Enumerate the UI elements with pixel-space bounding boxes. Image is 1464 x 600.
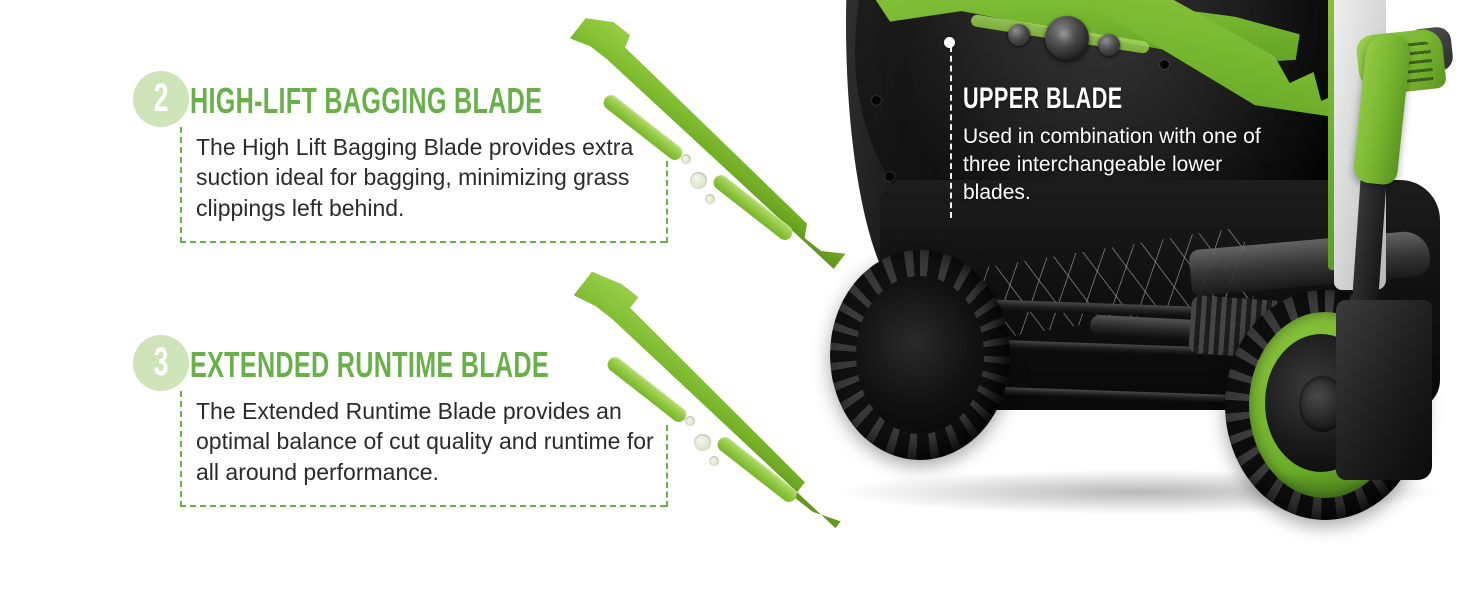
- feature-number: 3: [154, 342, 169, 382]
- blade-silhouette: [556, 5, 871, 271]
- blade-bolt-icon: [1008, 24, 1030, 46]
- blade-center-hole: [690, 172, 707, 189]
- mower-wheel-left: [830, 250, 1010, 460]
- upper-blade-callout: UPPER BLADE Used in combination with one…: [963, 84, 1283, 207]
- blade-center-bolt-icon: [1045, 16, 1089, 60]
- deck-rivet-icon: [1160, 60, 1169, 69]
- callout-body-text: Used in combination with one of three in…: [963, 123, 1283, 207]
- callout-leader-line: [950, 46, 952, 218]
- deck-rivet-icon: [872, 96, 881, 105]
- feature-title: EXTENDED RUNTIME BLADE: [190, 347, 549, 383]
- blade-silhouette: [559, 265, 873, 529]
- deck-rivet-icon: [885, 172, 894, 181]
- blade-mount-hole: [681, 154, 691, 164]
- feature-number-badge: 2: [133, 71, 189, 127]
- lawn-mower-photo: UPPER BLADE Used in combination with one…: [760, 0, 1464, 600]
- feature-number: 2: [154, 78, 169, 118]
- blade-center-hole: [694, 434, 711, 451]
- handle-mount-block: [1336, 300, 1432, 480]
- blade-mount-hole: [709, 456, 719, 466]
- blade-mount-hole: [685, 416, 695, 426]
- high-lift-bagging-blade-photo: [545, 28, 845, 268]
- feature-title: HIGH-LIFT BAGGING BLADE: [190, 83, 542, 119]
- ground-shadow: [840, 470, 1440, 514]
- blade-mount-hole: [705, 194, 715, 204]
- feature-number-badge: 3: [133, 335, 189, 391]
- infographic-canvas: UPPER BLADE Used in combination with one…: [0, 0, 1464, 600]
- extended-runtime-blade-photo: [545, 282, 845, 532]
- blade-bolt-icon: [1098, 34, 1120, 56]
- callout-title: UPPER BLADE: [963, 84, 1193, 114]
